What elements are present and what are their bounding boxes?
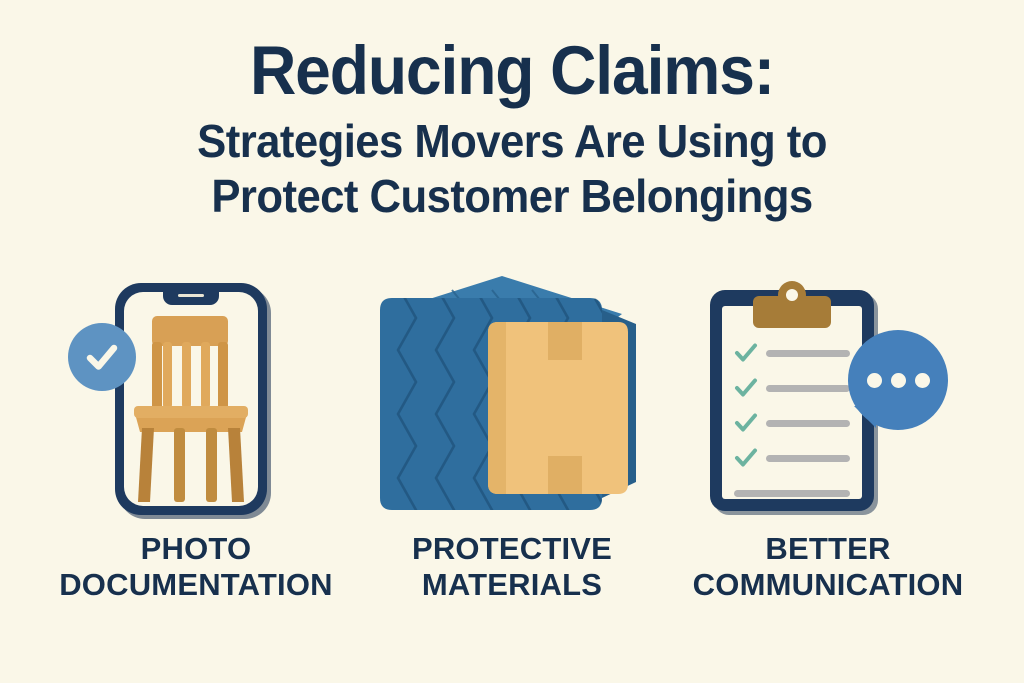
caption-better-communication: BETTER COMMUNICATION [693,531,964,603]
protective-materials-artwork [362,262,662,517]
smartphone-icon [115,283,267,515]
page-title: Reducing Claims: [36,34,988,108]
bubble-dot [867,373,882,388]
checklist-rows [734,340,850,515]
speech-bubble-icon [848,330,948,430]
clipboard-checklist-icon [696,264,964,517]
checkmark-icon [734,342,758,364]
column-protective-materials: PROTECTIVE MATERIALS [362,262,662,642]
better-communication-artwork [678,262,978,517]
page-subtitle: Strategies Movers Are Using to Protect C… [26,114,999,224]
moving-blanket-wrapped-box-icon [372,270,652,518]
checklist-line [766,350,850,357]
caption-line-1: PHOTO [59,531,333,567]
check-circle-icon [68,323,136,391]
caption-line-2: COMMUNICATION [693,567,964,603]
checkmark-icon [734,412,758,434]
bubble-dot [891,373,906,388]
clipboard-board [710,290,874,511]
icon-columns: PHOTO DOCUMENTATION [0,262,1024,642]
column-photo-documentation: PHOTO DOCUMENTATION [46,262,346,642]
bubble-dot [915,373,930,388]
page-subtitle-line-1: Strategies Movers Are Using to [26,114,999,169]
checklist-item-unchecked [734,480,850,506]
checklist-item [734,375,850,401]
phone-screen [124,292,258,506]
checklist-line [766,420,850,427]
checklist-line [766,455,850,462]
checkmark-icon [734,447,758,469]
infographic-poster: Reducing Claims: Strategies Movers Are U… [0,0,1024,683]
checklist-line [734,490,850,497]
column-better-communication: BETTER COMMUNICATION [678,262,978,642]
checklist-item [734,445,850,471]
checklist-line [766,385,850,392]
wooden-chair-icon [124,292,258,506]
checklist-item [734,410,850,436]
checklist-item [734,340,850,366]
page-subtitle-line-2: Protect Customer Belongings [26,169,999,224]
checkmark-icon [734,377,758,399]
caption-line-2: DOCUMENTATION [59,567,333,603]
caption-line-1: BETTER [693,531,964,567]
clipboard-paper [722,306,862,499]
clipboard-clip-knob [778,281,806,309]
caption-line-2: MATERIALS [412,567,612,603]
photo-documentation-artwork [46,262,346,517]
caption-line-1: PROTECTIVE [412,531,612,567]
caption-protective-materials: PROTECTIVE MATERIALS [412,531,612,603]
heading-block: Reducing Claims: Strategies Movers Are U… [0,34,1024,224]
clipboard-clip-icon [753,296,831,328]
caption-photo-documentation: PHOTO DOCUMENTATION [59,531,333,603]
checkmark-glyph [81,336,123,378]
